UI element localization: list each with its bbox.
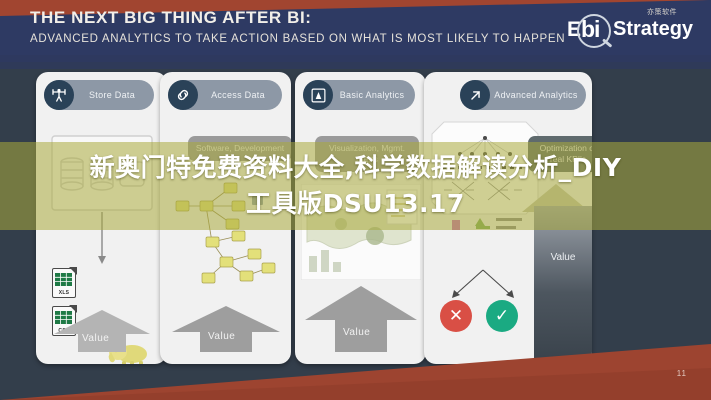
xls-file-icon: XLS [52,268,76,298]
panel-header-advanced-analytics[interactable]: Advanced Analytics [460,80,586,110]
decision-branch-arrows [438,268,528,304]
slide-canvas: THE NEXT BIG THING AFTER BI: ADVANCED AN… [0,0,711,400]
reject-x-icon: ✕ [440,300,472,332]
watermark-text: 新奥门特免费资料大全,科学数据解读分析_DIY 工具版DSU13.17 [0,150,711,222]
watermark-line-2: 工具版DSU13.17 [0,186,711,222]
panel-title: Access Data [198,90,282,100]
value-label: Value [82,333,109,344]
header-title: THE NEXT BIG THING AFTER BI: [30,8,312,28]
logo-word-strategy: Strategy [613,18,693,41]
arrow-up-right-icon [460,80,490,110]
value-label: Value [534,252,592,263]
approve-check-icon: ✓ [486,300,518,332]
chain-link-icon [168,80,198,110]
panel-title: Basic Analytics [333,90,415,100]
value-label: Value [343,327,370,338]
header-subtitle: ADVANCED ANALYTICS TO TAKE ACTION BASED … [30,33,565,45]
panel-title: Store Data [74,90,154,100]
logo-chinese-text: 亦策软件 [647,7,677,17]
background-navy-band-lower [0,55,711,69]
panel-title: Advanced Analytics [490,90,586,100]
panel-header-basic-analytics[interactable]: Basic Analytics [303,80,415,110]
value-arrow-up-icon [170,304,282,354]
weightlifter-icon [44,80,74,110]
page-number: 11 [677,369,687,378]
panel-header-store-data[interactable]: Store Data [44,80,154,110]
bar-chart-icon [303,80,333,110]
panel-header-access-data[interactable]: Access Data [168,80,282,110]
watermark-line-1: 新奥门特免费资料大全,科学数据解读分析_DIY [0,150,711,186]
ebistrategy-logo: 亦策软件 E bi Strategy [551,8,701,48]
value-arrow-up-icon [52,308,152,354]
value-arrow-up-icon [303,284,419,354]
value-label: Value [208,331,235,342]
file-label: XLS [52,290,76,296]
